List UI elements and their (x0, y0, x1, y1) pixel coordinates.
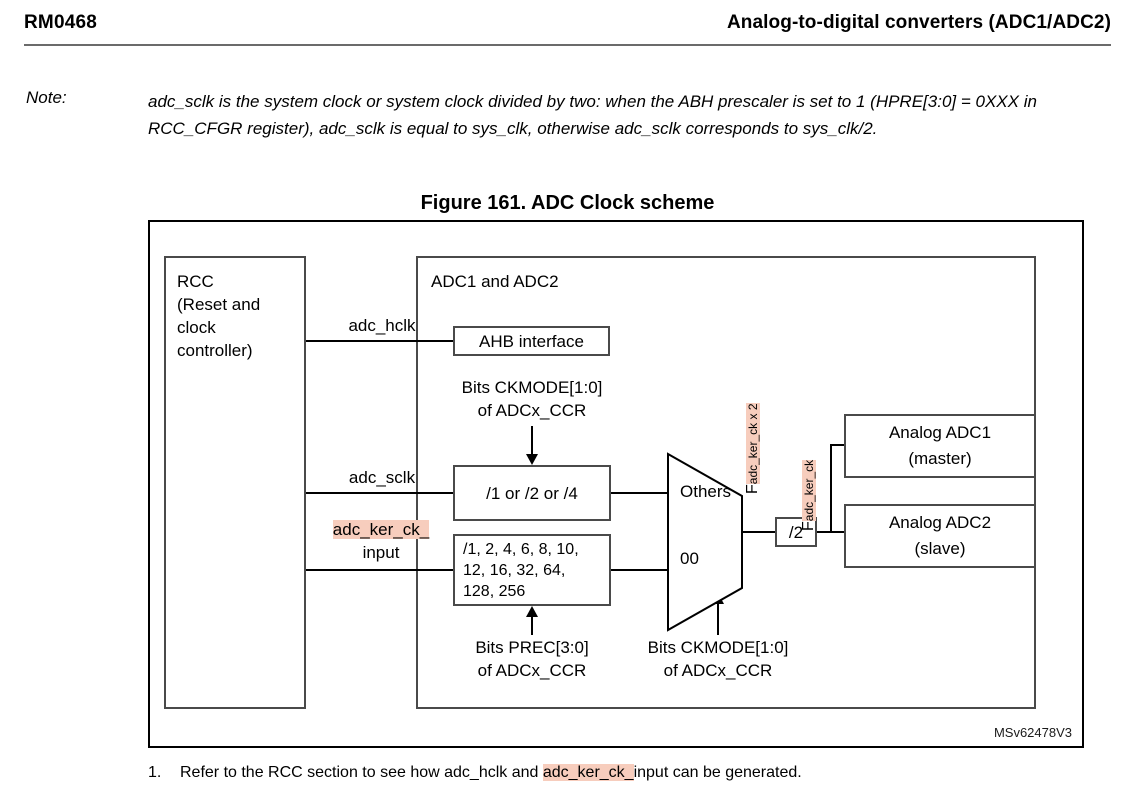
wire-mux-output (741, 531, 775, 533)
ckmode-bottom-line-2: of ADCx_CCR (664, 661, 773, 680)
freq-label-x2-base: F (744, 484, 761, 494)
figure-frame: RCC (Reset and clock controller) ADC1 an… (148, 220, 1084, 748)
freq-label-ker-base: F (800, 521, 817, 531)
adc-container-title: ADC1 and ADC2 (431, 270, 559, 293)
figure-id: MSv62478V3 (994, 725, 1072, 740)
prec-bottom-line-1: Bits PREC[3:0] (475, 638, 588, 657)
analog-adc2-block: Analog ADC2 (slave) (844, 504, 1036, 568)
prec-bottom-annotation: Bits PREC[3:0] of ADCx_CCR (450, 636, 614, 682)
prec-bottom-line-2: of ADCx_CCR (478, 661, 587, 680)
prescaler-sclk-block: /1 or /2 or /4 (453, 465, 611, 521)
wire-clock-bus-vertical (830, 445, 832, 533)
footnote-part-1: Refer to the RCC section to see how adc_… (180, 764, 543, 781)
prescaler-ker-block: /1, 2, 4, 6, 8, 10, 12, 16, 32, 64, 128,… (453, 534, 611, 606)
figure-caption: Figure 161. ADC Clock scheme (0, 192, 1135, 215)
wire-to-adc1 (830, 444, 844, 446)
rcc-line-4: controller) (177, 339, 253, 362)
signal-label-adc-ker-ck-rest: input (363, 543, 400, 562)
signal-label-adc-ker-ck-highlight: adc_ker_ck_ (333, 520, 429, 539)
freq-label-adc-ker-ck: Fadc_ker_ck (801, 460, 817, 531)
prescaler-ker-line-2: 12, 16, 32, 64, (463, 560, 565, 581)
ckmode-top-line-2: of ADCx_CCR (478, 401, 587, 420)
header-chapter-title: Analog-to-digital converters (ADC1/ADC2) (727, 12, 1111, 34)
mux-input-label-others: Others (680, 480, 731, 503)
analog-adc2-line-2: (slave) (914, 536, 965, 562)
figure-footnote: 1.Refer to the RCC section to see how ad… (148, 764, 1088, 782)
wire-ckmode-top (531, 426, 533, 456)
ckmode-top-annotation: Bits CKMODE[1:0] of ADCx_CCR (450, 376, 614, 422)
wire-to-adc2 (830, 531, 844, 533)
document-page: RM0468 Analog-to-digital converters (ADC… (0, 0, 1135, 794)
prescaler-ker-line-3: 128, 256 (463, 581, 525, 602)
footnote-number: 1. (148, 764, 180, 782)
freq-label-adc-ker-ck-x2: Fadc_ker_ck x 2 (745, 404, 761, 495)
footnote-part-2: input can be generated. (634, 764, 802, 781)
rcc-line-2: (Reset and (177, 293, 260, 316)
note-label: Note: (26, 88, 67, 108)
analog-adc1-block: Analog ADC1 (master) (844, 414, 1036, 478)
freq-label-x2-subscript: adc_ker_ck x 2 (746, 404, 760, 485)
wire-prec-bottom (531, 617, 533, 635)
signal-label-adc-sclk: adc_sclk (320, 466, 444, 489)
arrow-up-prec-icon (526, 606, 538, 617)
signal-label-adc-hclk: adc_hclk (320, 314, 444, 337)
ahb-interface-block: AHB interface (453, 326, 610, 356)
analog-adc1-line-2: (master) (908, 446, 971, 472)
arrow-down-ckmode-top-icon (526, 454, 538, 465)
freq-label-ker-subscript: adc_ker_ck (802, 460, 816, 521)
footnote-highlight: adc_ker_ck_ (543, 764, 634, 781)
header-doc-id: RM0468 (24, 12, 97, 34)
wire-adc-hclk (306, 340, 453, 342)
ckmode-bottom-annotation: Bits CKMODE[1:0] of ADCx_CCR (632, 636, 804, 682)
rcc-block: RCC (Reset and clock controller) (164, 256, 306, 709)
analog-adc2-line-1: Analog ADC2 (889, 510, 991, 536)
note-text: adc_sclk is the system clock or system c… (148, 88, 1068, 142)
wire-adc-sclk (306, 492, 453, 494)
wire-prescaler-ker-to-mux (611, 569, 667, 571)
wire-adc-ker-ck (306, 569, 453, 571)
rcc-line-3: clock (177, 316, 216, 339)
rcc-line-1: RCC (177, 270, 214, 293)
signal-label-adc-ker-ck: adc_ker_ck_ input (314, 518, 448, 564)
ckmode-bottom-line-1: Bits CKMODE[1:0] (648, 638, 789, 657)
prescaler-ker-line-1: /1, 2, 4, 6, 8, 10, (463, 539, 579, 560)
wire-prescaler-sclk-to-mux (611, 492, 673, 494)
header-divider (24, 44, 1111, 46)
mux-input-label-00: 00 (680, 547, 699, 570)
ckmode-top-line-1: Bits CKMODE[1:0] (462, 378, 603, 397)
analog-adc1-line-1: Analog ADC1 (889, 420, 991, 446)
